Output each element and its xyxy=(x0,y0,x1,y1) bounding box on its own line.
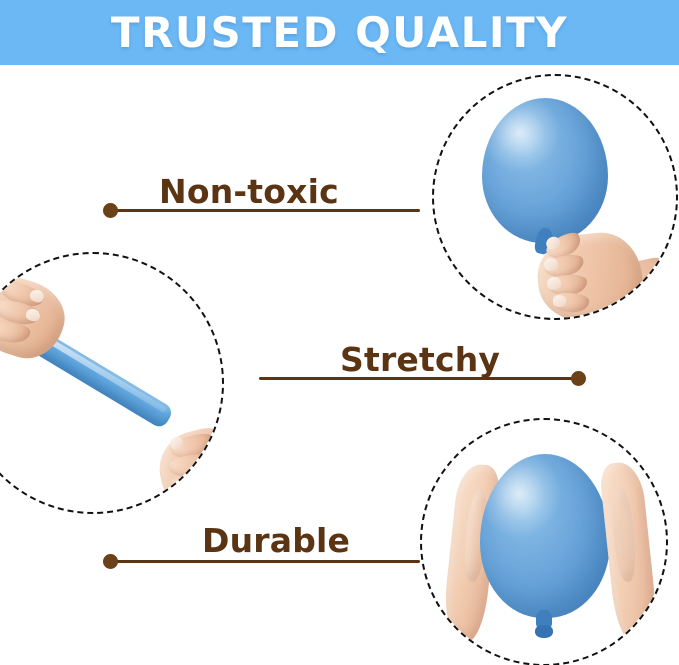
callout-dot-non-toxic xyxy=(103,203,118,218)
photo-balloon-stretched-by-two-hands xyxy=(0,254,222,512)
feature-label-stretchy: Stretchy xyxy=(340,340,500,379)
feature-label-durable: Durable xyxy=(202,521,350,560)
photo-balloon-squeezed-between-hands xyxy=(422,420,666,664)
balloon-icon xyxy=(482,98,608,243)
callout-dot-stretchy xyxy=(571,371,586,386)
callout-dot-durable xyxy=(103,554,118,569)
balloon-knot-icon xyxy=(535,625,553,638)
balloon-icon xyxy=(480,454,610,618)
photo-circle-balloon-stretched xyxy=(0,252,224,514)
photo-circle-balloon-held xyxy=(432,74,678,320)
product-feature-infographic: TRUSTED QUALITY xyxy=(0,0,679,665)
callout-line-durable xyxy=(112,560,420,563)
page-title: TRUSTED QUALITY xyxy=(0,0,679,65)
photo-circle-balloon-squeezed xyxy=(420,418,668,665)
feature-label-non-toxic: Non-toxic xyxy=(159,172,339,211)
photo-balloon-held-by-hand xyxy=(434,76,676,318)
fingernail xyxy=(547,277,561,290)
fingernail xyxy=(553,295,566,307)
